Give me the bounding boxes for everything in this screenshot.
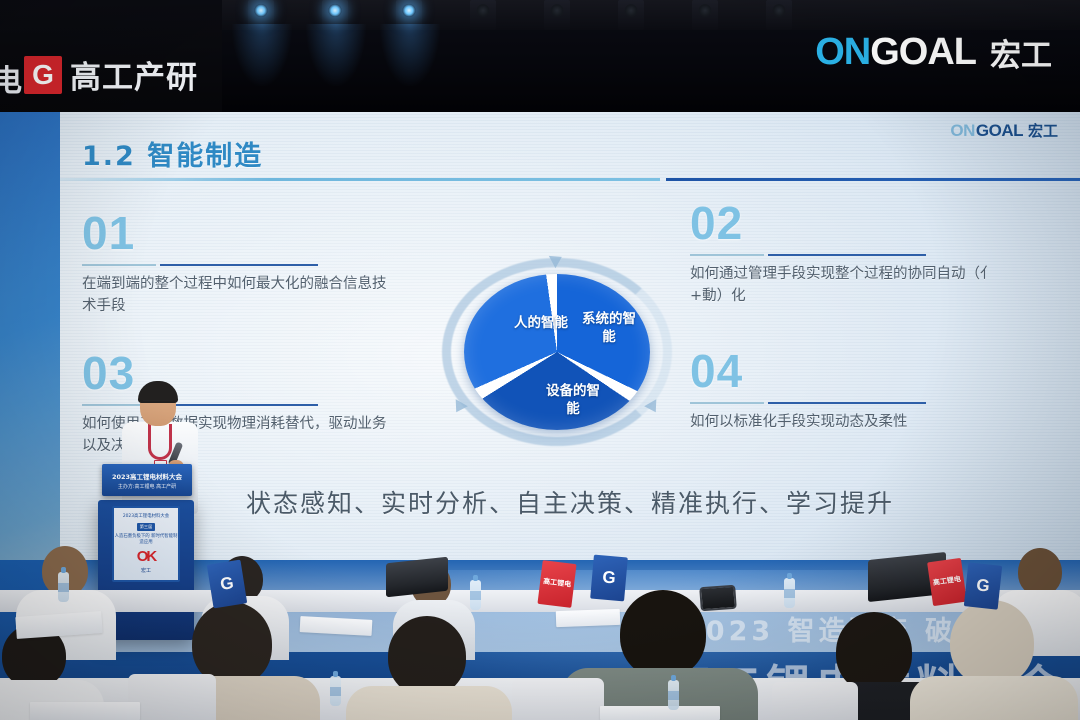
- light-glow: [306, 24, 366, 86]
- audience-chair: [128, 674, 216, 720]
- pie-label-system: 系统的智能: [578, 310, 640, 346]
- slide-logo-cn: 宏工: [1028, 120, 1058, 141]
- event-flag-blue: G: [964, 562, 1002, 609]
- slide-logo-ongoal: ON GOAL 宏工: [950, 120, 1058, 141]
- pie-label-people: 人的智能: [510, 314, 572, 332]
- slide-strapline: 状态感知、实时分析、自主决策、精准执行、学习提升: [60, 484, 1080, 520]
- speaker-lanyard: [148, 424, 172, 460]
- point-description: 如何通过管理手段实现整个过程的协同自动（亻+動）化: [690, 263, 1000, 308]
- point-number: 02: [690, 202, 1000, 246]
- point-rule: [82, 402, 392, 408]
- light-glow: [232, 24, 292, 86]
- point-rule: [690, 400, 1000, 406]
- sponsor-g-mark: G: [24, 56, 62, 94]
- flag-text: 高工锂电: [933, 576, 962, 588]
- handout-paper: [300, 616, 373, 636]
- flag-g-mark: G: [602, 567, 617, 588]
- point-number: 01: [82, 212, 392, 256]
- slide-logo-on: ON: [950, 121, 975, 141]
- water-bottle: [58, 572, 69, 602]
- title-underline-light: [60, 178, 660, 181]
- water-bottle: [330, 676, 341, 706]
- event-flag-red: 高工锂电: [537, 560, 576, 608]
- sponsor-name: 高工产研: [70, 52, 198, 97]
- venue-brand-ongoal: ON GOAL 宏工: [815, 30, 1052, 75]
- slide-title: 1.2 智能制造: [82, 134, 263, 173]
- point-rule: [82, 262, 392, 268]
- slide-point-04: 04 如何以标准化手段实现动态及柔性: [690, 350, 1000, 433]
- stage-light: [618, 0, 644, 30]
- point-rule: [690, 252, 1000, 258]
- speaker-glasses-icon: [143, 400, 173, 408]
- light-glow: [380, 24, 440, 86]
- stage-light: [544, 0, 570, 30]
- stage-light: [692, 0, 718, 30]
- slide-point-01: 01 在端到端的整个过程中如何最大化的融合信息技术手段: [82, 212, 392, 318]
- slide-logo-goal: GOAL: [976, 121, 1023, 141]
- audience-chair: [772, 682, 858, 720]
- brand-on-text: ON: [815, 31, 870, 74]
- water-bottle: [784, 578, 795, 608]
- flag-g-mark: G: [975, 575, 990, 596]
- point-number: 04: [690, 350, 1000, 394]
- brand-goal-text: GOAL: [870, 31, 976, 74]
- stage-light: [470, 0, 496, 30]
- event-flag-blue: G: [590, 555, 628, 602]
- brand-cn-text: 宏工: [990, 30, 1052, 75]
- flag-text: 高工锂电: [543, 578, 572, 590]
- handout-paper: [556, 609, 621, 627]
- flag-g-mark: G: [219, 573, 235, 595]
- audience-foreground: G 高工锂电 G 高工锂电 G: [0, 528, 1080, 720]
- title-underline-dark: [666, 178, 1080, 181]
- point-description: 如何以标准化手段实现动态及柔性: [690, 411, 1000, 433]
- poster-title: 2023高工锂电材料大会: [123, 514, 169, 520]
- handout-paper: [30, 702, 140, 720]
- stage-light: [766, 0, 792, 30]
- handout-paper: [600, 706, 720, 720]
- pie-label-device: 设备的智能: [542, 382, 604, 418]
- slide-point-02: 02 如何通过管理手段实现整个过程的协同自动（亻+動）化: [690, 202, 1000, 308]
- event-flag-red: 高工锂电: [927, 558, 967, 606]
- av-speaker-box: [386, 557, 448, 598]
- audience-chair: [512, 678, 604, 720]
- smartphone: [699, 585, 737, 611]
- water-bottle: [470, 580, 481, 610]
- conference-photo: 电 G 高工产研 ON GOAL 宏工 ON GOAL 宏工 1.2 智能制造 …: [0, 0, 1080, 720]
- podium-header-sign: 2023高工锂电材料大会 主办方:高工锂电 高工产研: [102, 464, 192, 496]
- sponsor-partial-text: 电: [0, 56, 22, 100]
- intelligence-pie-diagram: 人的智能 系统的智能 设备的智能: [432, 252, 682, 452]
- point-number: 03: [82, 352, 392, 396]
- sponsor-logo-gaogong: G 高工产研: [24, 52, 198, 97]
- event-flag-blue: G: [207, 560, 247, 609]
- podium-sign-line-2: 主办方:高工锂电 高工产研: [102, 483, 192, 490]
- podium-sign-line-1: 2023高工锂电材料大会: [102, 471, 192, 481]
- water-bottle: [668, 680, 679, 710]
- point-description: 在端到端的整个过程中如何最大化的融合信息技术手段: [82, 273, 392, 318]
